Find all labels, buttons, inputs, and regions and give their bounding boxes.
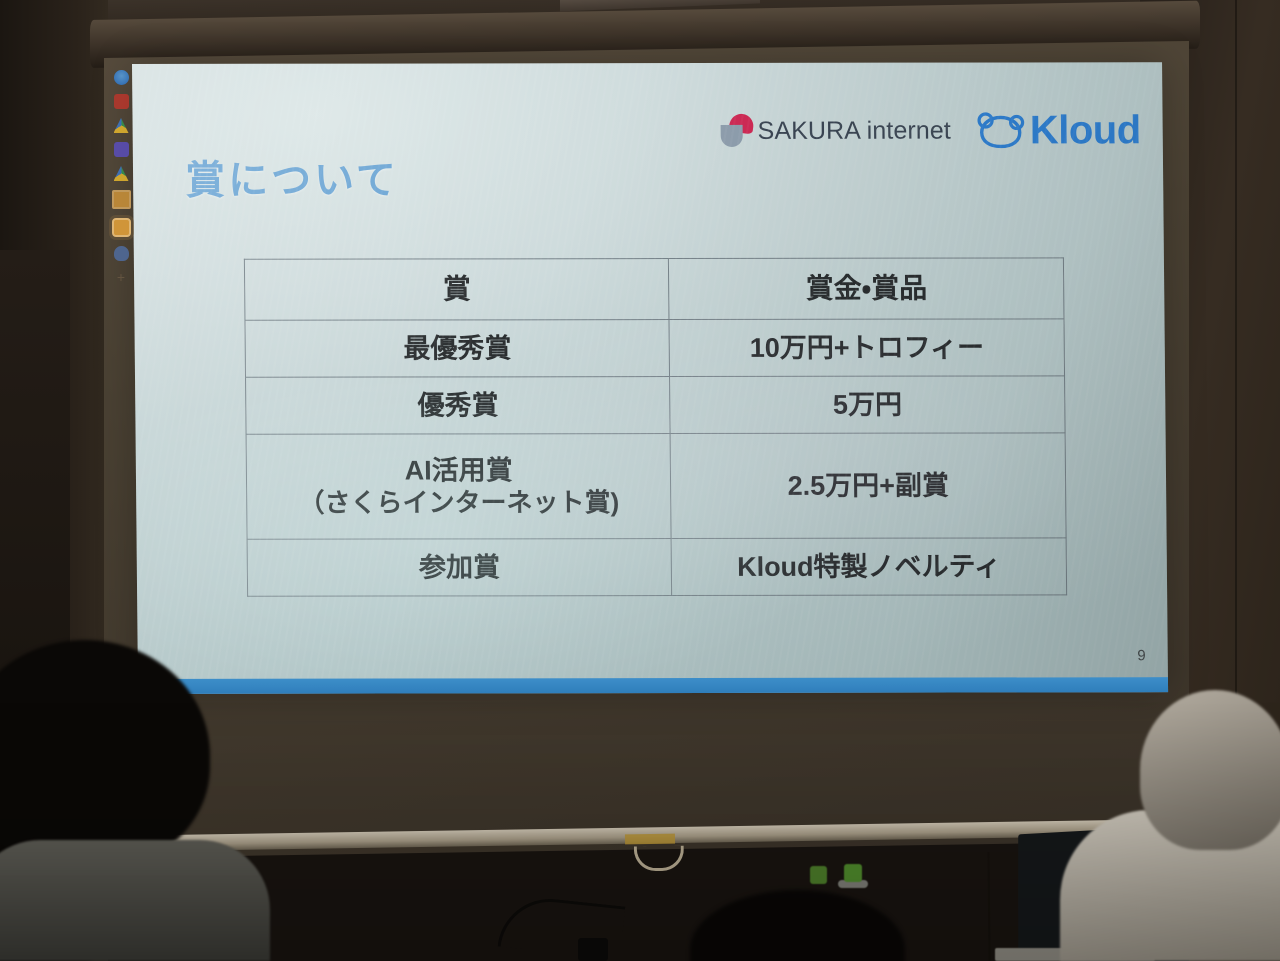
person-icon[interactable] — [114, 246, 129, 261]
audience-person-left-body — [0, 840, 270, 961]
cell-reward: Kloud特製ノベルティ — [671, 538, 1066, 596]
slide-title: 賞について — [185, 148, 399, 206]
cell-prize: 最優秀賞 — [245, 320, 670, 378]
video-call-icon[interactable] — [114, 70, 129, 85]
table-header-row: 賞 賞金・賞品 — [244, 258, 1064, 320]
kloud-cloud-bear-icon — [975, 111, 1027, 149]
window-icon-active[interactable] — [112, 218, 131, 237]
cell-reward: 5万円 — [670, 376, 1065, 434]
drive-icon[interactable] — [114, 118, 129, 133]
drive-icon[interactable] — [114, 166, 129, 181]
audience-person-right — [1140, 690, 1280, 850]
table-row: 優秀賞 5万円 — [246, 376, 1066, 434]
sakura-blossom-icon — [719, 114, 753, 148]
presentation-icon[interactable] — [114, 94, 129, 109]
kloud-logo-text: Kloud — [1030, 110, 1141, 150]
plus-icon[interactable]: + — [114, 270, 129, 285]
kloud-logo: Kloud — [975, 110, 1141, 150]
cell-reward: 10万円+トロフィー — [669, 319, 1064, 377]
cell-reward: 2.5万円+副賞 — [670, 433, 1066, 539]
slide-accent-bar — [138, 677, 1168, 694]
slide-logos: SAKURA internet Kloud — [719, 110, 1140, 151]
black-device — [578, 938, 608, 961]
slide-page-number: 9 — [1137, 647, 1146, 664]
screen-tape-label — [625, 834, 675, 845]
cell-prize: 優秀賞 — [246, 377, 671, 435]
cell-prize-main: AI活用賞 — [404, 455, 512, 485]
cell-prize-sub: （さくらインターネット賞) — [247, 487, 671, 519]
screen-pull-handle[interactable] — [634, 846, 684, 872]
sakura-logo-text: SAKURA internet — [757, 116, 951, 145]
audience-person-center — [690, 890, 905, 961]
window-icon[interactable] — [112, 190, 131, 209]
left-wall-panel — [0, 250, 70, 670]
room-scene: SAKURA internet Kloud 賞について 賞 賞金・賞 — [0, 0, 1280, 961]
prize-table: 賞 賞金・賞品 最優秀賞 10万円+トロフィー 優秀賞 5万円 — [244, 257, 1067, 596]
desktop-dock[interactable]: + — [108, 62, 134, 320]
table-row: 最優秀賞 10万円+トロフィー — [245, 319, 1065, 377]
bottle-cap — [844, 864, 862, 882]
table-row: AI活用賞 （さくらインターネット賞) 2.5万円+副賞 — [246, 433, 1066, 539]
app-icon[interactable] — [114, 142, 129, 157]
bottle-cap — [810, 866, 827, 884]
screen-cord — [987, 852, 990, 961]
sakura-internet-logo: SAKURA internet — [719, 114, 951, 148]
header-prize: 賞 — [244, 259, 669, 321]
cell-prize: 参加賞 — [247, 539, 672, 597]
table-row: 参加賞 Kloud特製ノベルティ — [247, 538, 1067, 596]
header-reward: 賞金・賞品 — [669, 258, 1064, 320]
projected-slide: SAKURA internet Kloud 賞について 賞 賞金・賞 — [132, 62, 1168, 694]
wall-seam — [1235, 0, 1237, 700]
cell-prize: AI活用賞 （さくらインターネット賞) — [246, 434, 671, 540]
